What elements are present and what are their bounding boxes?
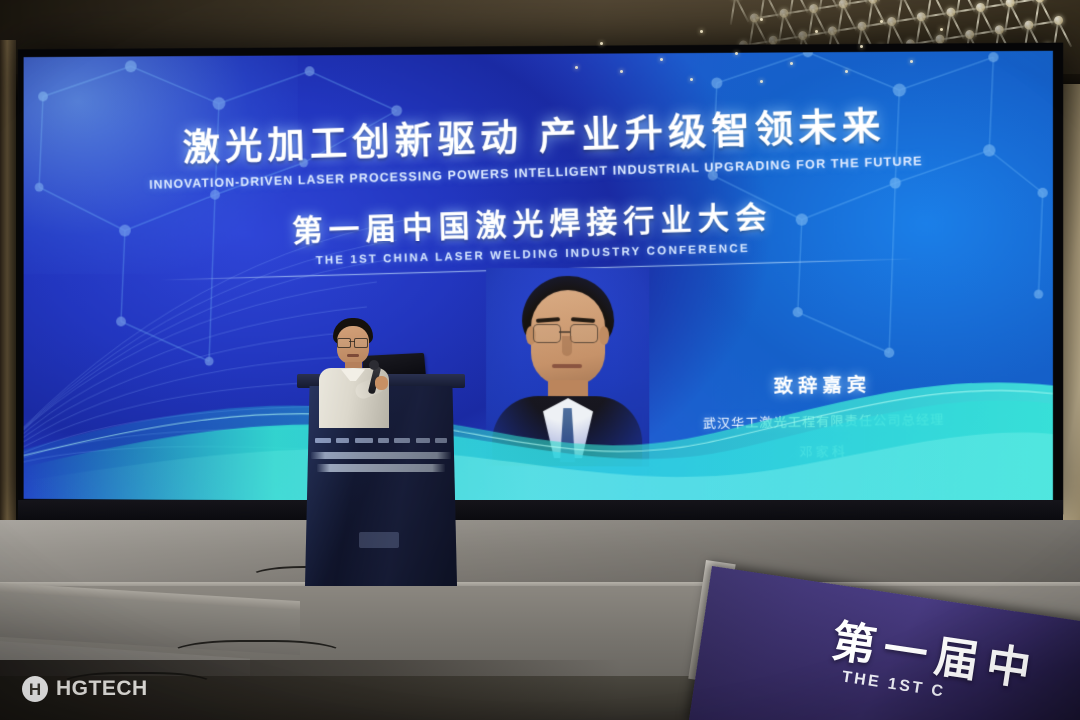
ceiling-light-point xyxy=(575,66,578,69)
hgtech-mark-icon: H xyxy=(22,676,48,702)
stage-cable xyxy=(170,640,344,674)
led-screen-frame: 激光加工创新驱动 产业升级智领未来 INNOVATION-DRIVEN LASE… xyxy=(18,43,1063,515)
ceiling-light-point xyxy=(690,78,693,81)
ceiling-light-point xyxy=(600,42,603,45)
stage-sheen xyxy=(0,520,1080,590)
ceiling-light-point xyxy=(735,52,738,55)
ceiling-light-point xyxy=(760,18,763,21)
conference-photo-scene: 激光加工创新驱动 产业升级智领未来 INNOVATION-DRIVEN LASE… xyxy=(0,0,1080,720)
speaker-person xyxy=(305,318,401,428)
hgtech-mark-letter: H xyxy=(29,681,41,698)
ceiling-light-point xyxy=(660,58,663,61)
ceiling-light-point xyxy=(880,20,883,23)
left-wall xyxy=(0,40,16,600)
speaker-glasses-icon xyxy=(337,338,351,348)
podium-base-logo xyxy=(359,532,399,548)
ceiling-light-point xyxy=(760,80,763,83)
ceiling-light-point xyxy=(845,70,848,73)
ceiling-light-point xyxy=(860,45,863,48)
watermark-logo: H HGTECH xyxy=(22,676,148,702)
ceiling-light-point xyxy=(815,30,818,33)
hgtech-brand-text: HGTECH xyxy=(56,677,148,701)
wave-graphic xyxy=(24,331,1053,505)
ceiling-light-point xyxy=(620,70,623,73)
led-screen: 激光加工创新驱动 产业升级智领未来 INNOVATION-DRIVEN LASE… xyxy=(24,51,1053,505)
ceiling-light-point xyxy=(700,30,703,33)
ceiling-light-point xyxy=(910,60,913,63)
ceiling-light-point xyxy=(790,62,793,65)
ceiling-light-point xyxy=(940,28,943,31)
